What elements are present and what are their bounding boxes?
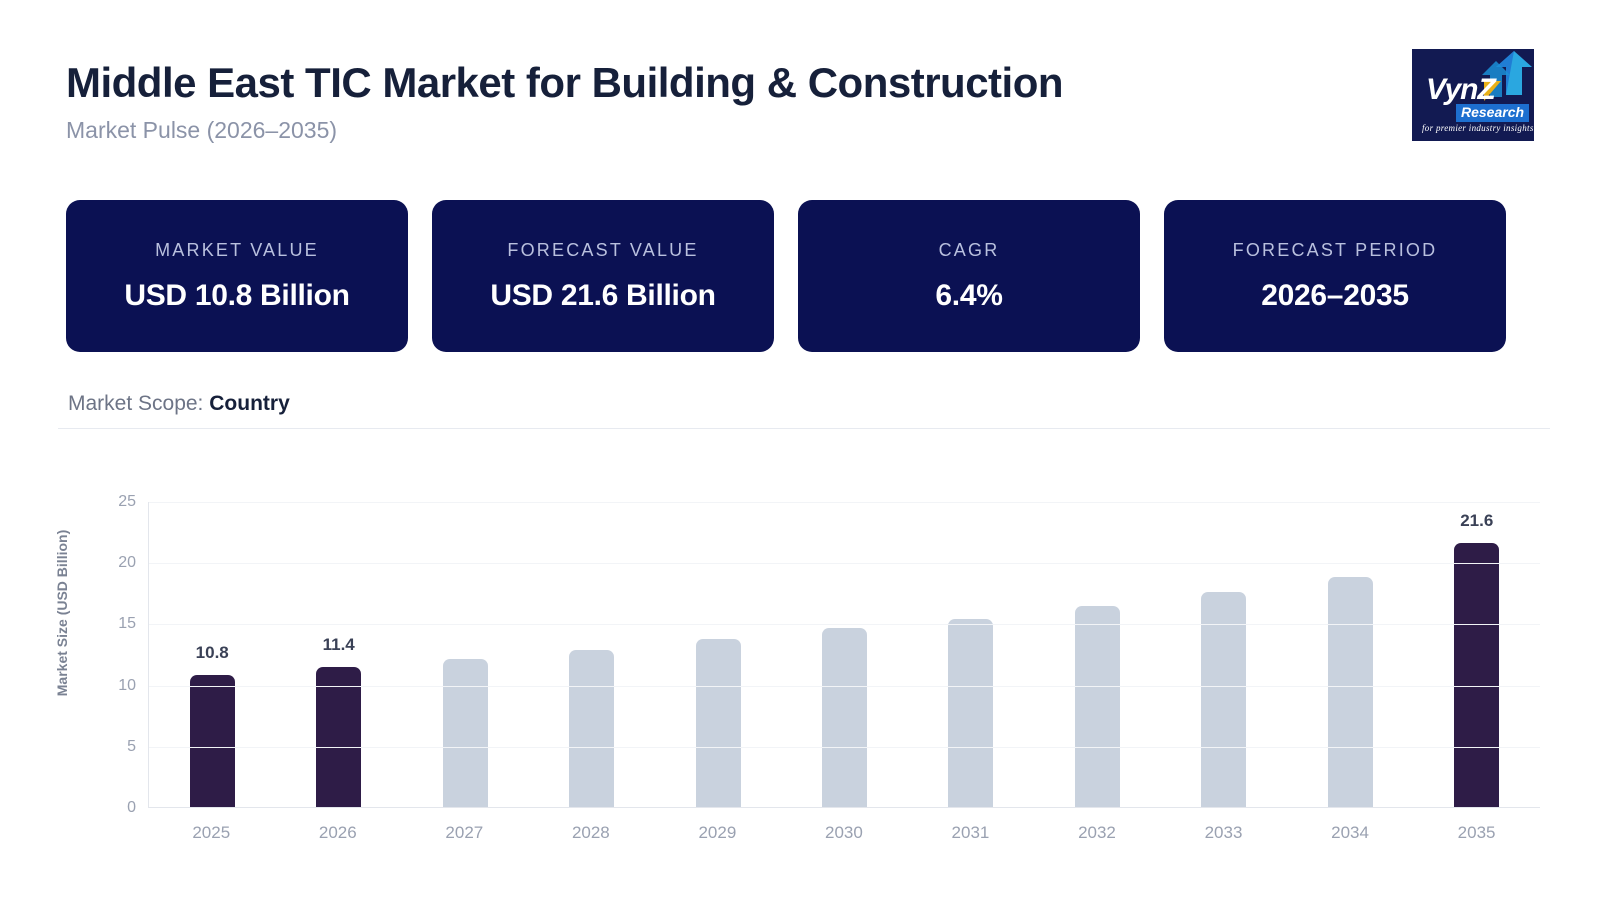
gridline [149,502,1540,503]
y-axis-tick-label: 25 [100,493,136,511]
bar[interactable] [569,650,614,807]
gridline [149,624,1540,625]
bar[interactable] [443,659,488,807]
logo-wordmark: VynZ [1426,75,1495,105]
y-axis-tick-label: 5 [100,738,136,756]
bar-slot[interactable] [678,502,758,807]
page-subtitle: Market Pulse (2026–2035) [66,117,1396,144]
market-scope-label: Market Scope: [68,392,203,415]
stat-card-label: FORECAST PERIOD [1233,240,1438,261]
stat-card-cagr: CAGR 6.4% [798,200,1140,352]
bar[interactable] [316,667,361,807]
bar-slot[interactable] [1310,502,1390,807]
stat-card-forecast-value: FORECAST VALUE USD 21.6 Billion [432,200,774,352]
stat-card-market-value: MARKET VALUE USD 10.8 Billion [66,200,408,352]
bar[interactable] [822,628,867,807]
bar-value-label: 11.4 [299,635,379,655]
gridline [149,686,1540,687]
y-axis-tick-label: 15 [100,615,136,633]
bar-slot[interactable] [425,502,505,807]
x-axis-tick-label: 2035 [1437,823,1517,843]
bar[interactable] [1454,543,1499,807]
x-axis-tick-label: 2033 [1184,823,1264,843]
x-axis-tick-label: 2029 [677,823,757,843]
x-axis-tick-label: 2026 [298,823,378,843]
x-axis-tick-label: 2027 [424,823,504,843]
bar-slot[interactable] [804,502,884,807]
stat-card-value: 6.4% [935,279,1002,313]
bar-slot[interactable]: 21.6 [1437,502,1517,807]
vynz-research-logo: VynZ Research for premier industry insig… [1412,49,1534,141]
stat-card-value: USD 10.8 Billion [124,279,349,313]
bar-slot[interactable]: 10.8 [172,502,252,807]
header: Middle East TIC Market for Building & Co… [66,60,1396,144]
bar-series: 10.811.421.6 [149,502,1540,807]
section-divider [58,428,1550,429]
y-axis-tick-label: 20 [100,554,136,572]
x-axis-tick-label: 2030 [804,823,884,843]
stat-card-row: MARKET VALUE USD 10.8 Billion FORECAST V… [66,200,1506,352]
bar-slot[interactable] [931,502,1011,807]
y-axis-tick-label: 0 [100,799,136,817]
bar[interactable] [190,675,235,807]
x-axis-labels: 2025202620272028202920302031203220332034… [148,823,1540,843]
stat-card-label: FORECAST VALUE [507,240,698,261]
stat-card-value: USD 21.6 Billion [490,279,715,313]
x-axis-tick-label: 2034 [1310,823,1390,843]
bar-slot[interactable] [1184,502,1264,807]
y-axis-tick-label: 10 [100,677,136,695]
market-scope: Market Scope: Country [68,392,290,416]
logo-tagline: for premier industry insights [1422,123,1534,133]
bar[interactable] [1328,577,1373,807]
x-axis-tick-label: 2031 [930,823,1010,843]
x-axis-tick-label: 2025 [171,823,251,843]
market-size-bar-chart: Market Size (USD Billion) 10.811.421.6 0… [0,455,1600,875]
bar[interactable] [948,619,993,807]
stat-card-label: CAGR [939,240,1000,261]
market-scope-value: Country [209,392,290,415]
bar-value-label: 10.8 [172,643,252,663]
logo-subtitle: Research [1456,104,1529,122]
bar-slot[interactable] [1057,502,1137,807]
x-axis-tick-label: 2028 [551,823,631,843]
stat-card-value: 2026–2035 [1261,279,1408,313]
bar[interactable] [696,639,741,807]
infographic-page: Middle East TIC Market for Building & Co… [0,0,1600,900]
bar-value-label: 21.6 [1437,511,1517,531]
y-axis-title: Market Size (USD Billion) [54,503,70,723]
gridline [149,747,1540,748]
stat-card-label: MARKET VALUE [155,240,319,261]
gridline [149,563,1540,564]
stat-card-forecast-period: FORECAST PERIOD 2026–2035 [1164,200,1506,352]
bar[interactable] [1075,606,1120,807]
page-title: Middle East TIC Market for Building & Co… [66,60,1396,105]
x-axis-tick-label: 2032 [1057,823,1137,843]
bar-slot[interactable]: 11.4 [299,502,379,807]
plot-area: 10.811.421.6 0510152025 [148,502,1540,808]
bar-slot[interactable] [552,502,632,807]
